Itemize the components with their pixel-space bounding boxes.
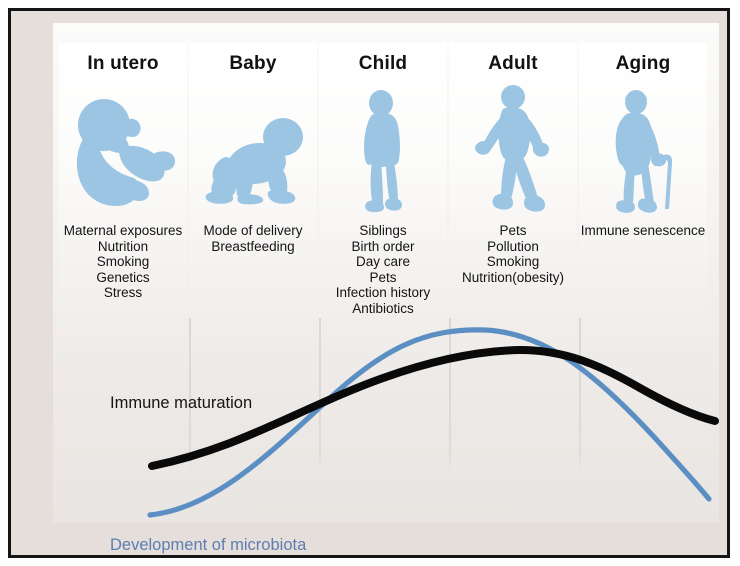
factor-item: Infection history	[313, 285, 453, 301]
factor-item: Nutrition(obesity)	[443, 270, 583, 286]
immune-maturation-label: Immune maturation	[110, 394, 252, 413]
stage-panel-baby[interactable]: Baby	[189, 43, 317, 318]
stage-factor-list: Immune senescence	[573, 223, 713, 239]
stage-factor-list: Maternal exposures Nutrition Smoking Gen…	[53, 223, 193, 301]
factor-item: Breastfeeding	[183, 239, 323, 255]
factor-item: Immune senescence	[573, 223, 713, 239]
factor-item: Mode of delivery	[183, 223, 323, 239]
microbiota-label: Development of microbiota	[110, 536, 306, 555]
factor-item: Stress	[53, 285, 193, 301]
crawling-baby-silhouette-icon	[189, 85, 317, 217]
factor-item: Pets	[313, 270, 453, 286]
factor-item: Day care	[313, 254, 453, 270]
stage-title: Child	[319, 53, 447, 75]
elderly-with-cane-silhouette-icon	[579, 85, 707, 217]
figure-frame: In utero	[8, 8, 730, 558]
fetus-silhouette-icon	[59, 85, 187, 217]
factor-item: Pets	[443, 223, 583, 239]
stage-factor-list: Mode of delivery Breastfeeding	[183, 223, 323, 254]
stage-panel-in-utero[interactable]: In utero	[59, 43, 187, 318]
figure-root: In utero	[0, 0, 740, 566]
figure-plate: In utero	[53, 23, 719, 523]
lifespan-curves-chart	[95, 303, 740, 535]
stage-title: Adult	[449, 53, 577, 75]
factor-item: Siblings	[313, 223, 453, 239]
factor-item: Smoking	[53, 254, 193, 270]
stage-factor-list: Pets Pollution Smoking Nutrition(obesity…	[443, 223, 583, 285]
stage-title: In utero	[59, 53, 187, 75]
walking-adult-silhouette-icon	[449, 85, 577, 217]
factor-item: Nutrition	[53, 239, 193, 255]
microbiota-curve	[150, 330, 709, 515]
factor-item: Smoking	[443, 254, 583, 270]
standing-child-silhouette-icon	[319, 85, 447, 217]
stage-title: Baby	[189, 53, 317, 75]
stage-panel-aging[interactable]: Aging	[579, 43, 707, 318]
factor-item: Pollution	[443, 239, 583, 255]
factor-item: Genetics	[53, 270, 193, 286]
stage-panel-adult[interactable]: Adult	[449, 43, 577, 318]
factor-item: Birth order	[313, 239, 453, 255]
factor-item: Maternal exposures	[53, 223, 193, 239]
stage-panel-child[interactable]: Child	[319, 43, 447, 318]
stage-title: Aging	[579, 53, 707, 75]
